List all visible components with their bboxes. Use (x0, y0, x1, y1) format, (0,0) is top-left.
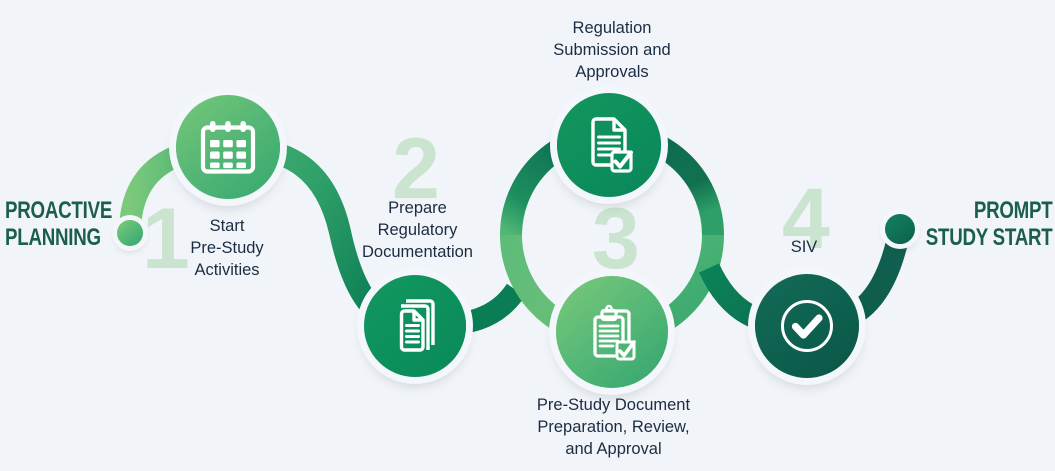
documents-stack-icon (388, 297, 442, 355)
process-flow-infographic: 1 2 3 4 PROACTIVE PLANNING PROMPT STUDY … (0, 0, 1055, 471)
start-dot (117, 220, 143, 246)
step-1-node[interactable] (176, 95, 280, 199)
step-4-node[interactable] (755, 274, 859, 378)
prompt-study-start-label: PROMPT STUDY START (925, 198, 1052, 252)
step-3-bottom-caption: Pre-Study Document Preparation, Review, … (512, 394, 715, 460)
proactive-planning-label: PROACTIVE PLANNING (5, 198, 112, 252)
clipboard-check-icon (582, 301, 642, 363)
end-dot (885, 214, 915, 244)
step-3-top-caption: Regulation Submission and Approvals (522, 17, 702, 83)
step-2-node[interactable] (364, 275, 466, 377)
step-4-caption: SIV (762, 236, 846, 258)
calendar-icon (200, 120, 256, 174)
document-check-icon (581, 116, 637, 174)
step-number-3: 3 (592, 196, 640, 282)
step-3-bottom-node[interactable] (556, 276, 668, 388)
step-3-top-node[interactable] (557, 93, 661, 197)
check-circle-icon (778, 297, 836, 355)
step-2-caption: Prepare Regulatory Documentation (340, 197, 495, 263)
step-1-caption: Start Pre-Study Activities (152, 215, 302, 281)
